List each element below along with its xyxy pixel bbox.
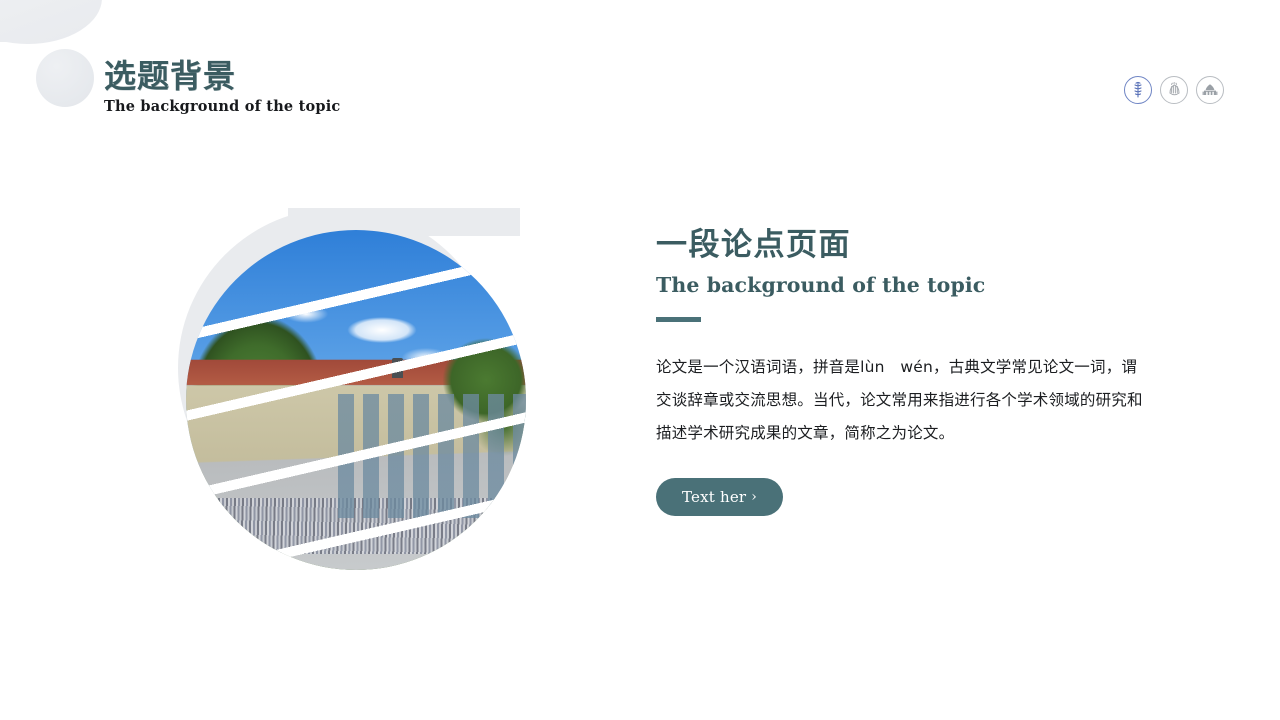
page-title: 选题背景 xyxy=(104,58,340,96)
building-windows xyxy=(338,394,526,518)
page-header: 选题背景 The background of the topic xyxy=(104,58,340,115)
decor-blob-primary xyxy=(0,0,102,44)
hand-tree-icon[interactable] xyxy=(1160,76,1188,104)
text-her-button[interactable]: Text her › xyxy=(656,478,783,516)
cta-label: Text her xyxy=(682,488,746,506)
campus-building-photo xyxy=(186,230,526,570)
page-subtitle: The background of the topic xyxy=(104,98,340,115)
content-column: 一段论点页面 The background of the topic 论文是一个… xyxy=(656,226,1156,516)
caduceus-icon[interactable] xyxy=(1124,76,1152,104)
content-subtitle: The background of the topic xyxy=(656,273,1156,297)
content-body: 论文是一个汉语词语，拼音是lùn wén，古典文学常见论文一词，谓交谈辞章或交流… xyxy=(656,351,1146,450)
chevron-right-icon: › xyxy=(751,490,757,504)
content-title: 一段论点页面 xyxy=(656,226,1156,265)
building-chimney xyxy=(392,358,403,378)
mosque-building-icon[interactable] xyxy=(1196,76,1224,104)
photo-composition xyxy=(178,200,526,588)
header-icon-row xyxy=(1124,76,1224,104)
content-divider xyxy=(656,317,701,322)
decor-circle xyxy=(36,49,94,107)
